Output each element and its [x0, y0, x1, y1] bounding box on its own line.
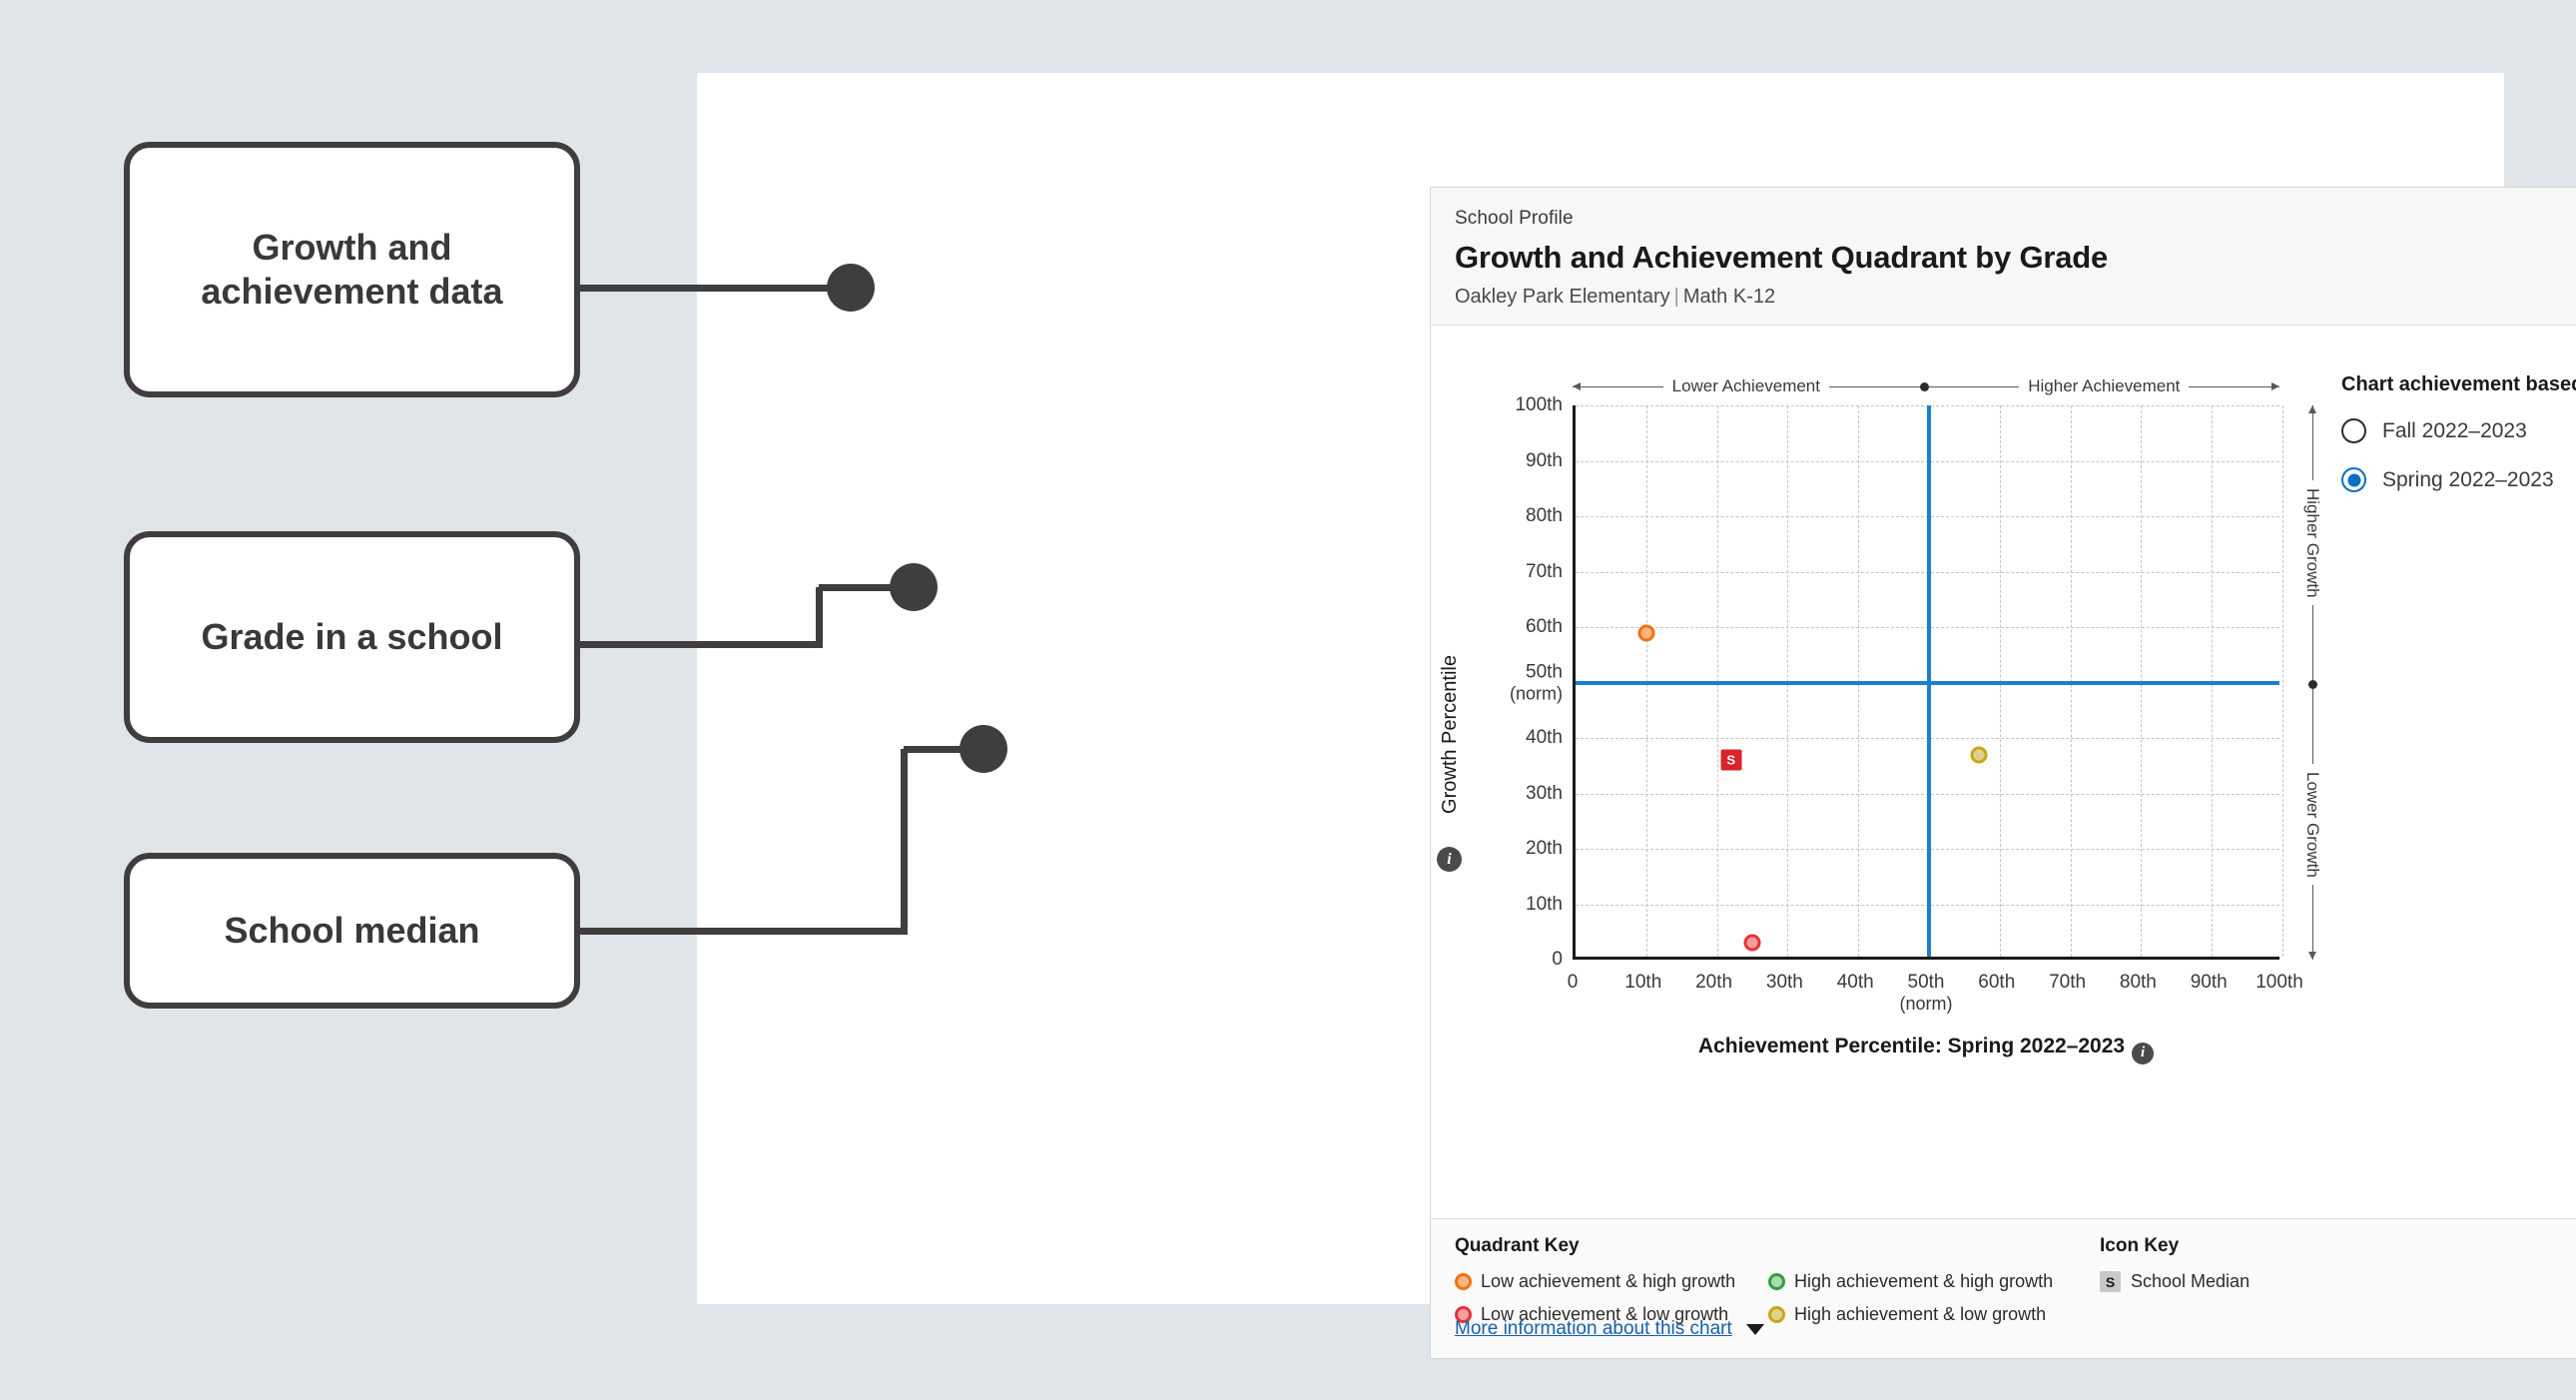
plot-inner: S — [1576, 405, 2279, 957]
y-axis-tick: 40th — [1447, 727, 1573, 749]
quadrant-key-heading: Quadrant Key — [1455, 1235, 2068, 1257]
data-point-low-achievement-low-growth[interactable] — [1744, 935, 1761, 952]
y-axis-tick: 20th — [1447, 838, 1573, 860]
x-axis-title: Achievement Percentile: Spring 2022–2023… — [1573, 1035, 2279, 1064]
icon-key-label-0: School Median — [2131, 1271, 2250, 1292]
higher-achievement-arrow — [2189, 386, 2279, 387]
yellow-dot-icon — [1768, 1306, 1785, 1323]
top-axis-line-mid-left — [1829, 386, 1920, 387]
data-point-low-achievement-high-growth[interactable] — [1637, 624, 1654, 641]
subject-name: Math K-12 — [1683, 286, 1775, 308]
connector-growth-achievement-endpoint-dot — [827, 264, 875, 312]
chevron-down-icon[interactable] — [1746, 1324, 1764, 1335]
radio-spring-label: Spring 2022–2023 — [2382, 468, 2554, 492]
top-axis-center-dot — [1920, 382, 1929, 391]
quadrant-scatter-chart: Lower Achievement Higher Achievement Gro… — [1431, 326, 2329, 1219]
quadrant-key-item-low-high: Low achievement & high growth — [1455, 1271, 1754, 1292]
page-title: Growth and Achievement Quadrant by Grade — [1455, 240, 2576, 276]
quadrant-key-label-3: High achievement & low growth — [1794, 1304, 2046, 1325]
y-axis-tick: 100th — [1447, 394, 1573, 416]
connector-growth-achievement-segment — [580, 285, 851, 292]
card-subtitle: Oakley Park Elementary|Math K-12 — [1455, 286, 2576, 309]
connector-grade-in-school-segment — [816, 587, 823, 648]
y-axis-tick: 90th — [1447, 450, 1573, 472]
y-axis-tick: 60th — [1447, 616, 1573, 638]
icon-key-item-school-median: S School Median — [2100, 1271, 2250, 1292]
higher-growth-label: Higher Growth — [2302, 480, 2322, 606]
page-sheet: School Profile Growth and Achievement Qu… — [697, 73, 2504, 1304]
x-axis-tick: 100th — [2225, 972, 2334, 994]
chart-card: School Profile Growth and Achievement Qu… — [1430, 187, 2576, 1359]
y-axis-tick: 0 — [1447, 949, 1573, 971]
gridline-vertical — [2282, 405, 2283, 957]
radio-option-spring[interactable]: Spring 2022–2023 — [2341, 467, 2576, 492]
top-axis-line-mid-right — [1929, 386, 2020, 387]
right-axis-line-upper — [2312, 605, 2313, 680]
data-point-high-achievement-low-growth[interactable] — [1970, 746, 1987, 763]
norm-line-horizontal — [1576, 681, 2279, 685]
y-axis-tick: 30th — [1447, 783, 1573, 805]
orange-dot-icon — [1455, 1273, 1472, 1290]
annotation-callout-growth-achievement: Growth and achievement data — [124, 142, 580, 397]
quadrant-key-label-0: Low achievement & high growth — [1481, 1271, 1735, 1292]
y-axis-tick: 10th — [1447, 894, 1573, 916]
more-info-row[interactable]: More information about this chart — [1455, 1318, 1764, 1340]
term-selector: Chart achievement based on the following… — [2341, 373, 2576, 516]
right-axis-line-lower — [2312, 689, 2313, 764]
card-footer: Quadrant Key Low achievement & high grow… — [1431, 1218, 2576, 1358]
right-axis-center-dot — [2308, 680, 2317, 689]
connector-grade-in-school-segment — [580, 641, 819, 648]
radio-spring-circle[interactable] — [2341, 467, 2366, 492]
lower-achievement-arrow — [1573, 386, 1663, 387]
quadrant-key-item-high-high: High achievement & high growth — [1768, 1271, 2068, 1292]
radio-fall-label: Fall 2022–2023 — [2382, 419, 2527, 443]
icon-key-heading: Icon Key — [2100, 1235, 2250, 1257]
achievement-percentile-info-icon[interactable]: i — [2132, 1043, 2154, 1064]
y-axis-tick: 70th — [1447, 561, 1573, 583]
annotation-callout-grade-in-school: Grade in a school — [124, 531, 580, 743]
connector-school-median-segment — [901, 749, 908, 935]
higher-growth-arrow — [2312, 405, 2313, 480]
y-axis-tick: 50th(norm) — [1447, 661, 1573, 704]
y-axis-tick: 80th — [1447, 505, 1573, 527]
radio-fall-circle[interactable] — [2341, 418, 2366, 443]
card-header: School Profile Growth and Achievement Qu… — [1431, 188, 2576, 326]
annotation-callout-school-median: School median — [124, 853, 580, 1009]
quadrant-key-label-1: High achievement & high growth — [1794, 1271, 2053, 1292]
school-median-marker[interactable]: S — [1720, 750, 1741, 771]
green-dot-icon — [1768, 1273, 1785, 1290]
quadrant-key-item-high-low: High achievement & low growth — [1768, 1304, 2068, 1325]
lower-growth-label: Lower Growth — [2302, 764, 2322, 886]
school-median-icon: S — [2100, 1271, 2121, 1292]
top-achievement-axis: Lower Achievement Higher Achievement — [1573, 373, 2279, 399]
connector-grade-in-school-endpoint-dot — [890, 563, 938, 611]
card-body: Lower Achievement Higher Achievement Gro… — [1431, 326, 2576, 1219]
more-information-link[interactable]: More information about this chart — [1455, 1318, 1732, 1340]
lower-achievement-label: Lower Achievement — [1663, 376, 1829, 396]
right-growth-axis: Higher Growth Lower Growth — [2299, 405, 2325, 960]
icon-key: Icon Key S School Median — [2100, 1235, 2250, 1337]
connector-school-median-endpoint-dot — [960, 725, 1007, 773]
x-axis-title-text: Achievement Percentile: Spring 2022–2023 — [1698, 1035, 2125, 1057]
school-name: Oakley Park Elementary — [1455, 286, 1670, 308]
x-axis-norm-sublabel: (norm) — [1871, 994, 1981, 1015]
breadcrumb-eyebrow: School Profile — [1455, 208, 2576, 230]
lower-growth-arrow — [2312, 885, 2313, 960]
y-axis-norm-sublabel: (norm) — [1447, 683, 1563, 704]
connector-school-median-segment — [580, 928, 904, 935]
subtitle-separator: | — [1670, 286, 1683, 308]
radio-option-fall[interactable]: Fall 2022–2023 — [2341, 418, 2576, 443]
higher-achievement-label: Higher Achievement — [2019, 376, 2189, 396]
plot-area: S — [1573, 405, 2279, 960]
term-selector-heading: Chart achievement based on the following… — [2341, 373, 2576, 396]
